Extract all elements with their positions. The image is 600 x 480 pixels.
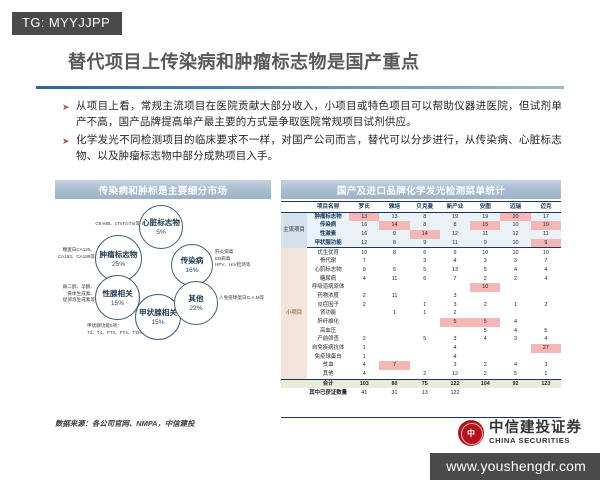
cell: 2 — [440, 309, 470, 318]
cell: 2 — [470, 370, 500, 379]
title-divider — [36, 86, 564, 89]
cell: 2 — [349, 301, 379, 310]
cell: 6 — [410, 275, 440, 284]
cell: 4 — [500, 361, 530, 370]
cell — [281, 379, 307, 388]
cell: 10 — [470, 283, 500, 292]
row-label: 其中已获证数量 — [307, 388, 349, 397]
cell: 3 — [531, 361, 561, 370]
cell — [500, 388, 530, 397]
table-row: 药物浓度2113 — [281, 292, 561, 301]
cell: 10 — [531, 248, 561, 257]
bubble-value: 15% — [111, 300, 124, 307]
table-row: 其他4212251 — [281, 370, 561, 379]
row-label: 免疫球蛋白 — [307, 353, 349, 362]
cell: 2 — [470, 301, 500, 310]
cell: 7 — [349, 257, 379, 266]
table-row: 贫血473243 — [281, 361, 561, 370]
cell: 13 — [440, 266, 470, 275]
cell — [470, 344, 500, 353]
note-thyroid: 甲状腺功能5项： T3、T4、FT3、FT4、TSH — [87, 323, 159, 336]
header-roche: 罗氏 — [349, 202, 379, 213]
cell — [349, 327, 379, 336]
cell: 4 — [440, 344, 470, 353]
row-label: 高血压 — [307, 327, 349, 336]
panel-header-left: 传染病和肿标是主要细分市场 — [55, 180, 271, 199]
cell: 8 — [410, 212, 440, 221]
cell: 10 — [470, 248, 500, 257]
cell: 4 — [500, 266, 530, 275]
bubble-label: 其他 — [188, 294, 203, 303]
cell: 5 — [379, 266, 409, 275]
cell — [379, 370, 409, 379]
note-cardiac: CK-MB、cTnT/cTnI等 — [84, 221, 140, 228]
source-note: 数据来源：各公司官网、NMPA，中信建投 — [55, 418, 194, 429]
cell — [470, 292, 500, 301]
cell: 19 — [440, 212, 470, 221]
cell: 3 — [500, 335, 530, 344]
row-label: 药物浓度 — [307, 292, 349, 301]
cell: 14 — [379, 221, 409, 230]
panel-header-right: 国产及进口品牌化学发光检测菜单统计 — [281, 180, 561, 199]
cell: 14 — [410, 230, 440, 239]
cell: 8 — [440, 221, 470, 230]
cell: 3 — [470, 257, 500, 266]
cell: 19 — [531, 221, 561, 230]
table-row: 免疫球蛋白14 — [281, 353, 561, 362]
cell — [531, 353, 561, 362]
cell: 4 — [440, 353, 470, 362]
bubble-other: 其他 22% — [174, 281, 218, 325]
row-label: 甲状腺功能 — [307, 239, 349, 248]
cell: 6 — [410, 248, 440, 257]
cell: 2 — [349, 292, 379, 301]
cell: 4 — [500, 327, 530, 336]
cell: 13 — [349, 212, 379, 221]
cell: 4 — [500, 318, 530, 327]
cell: 122 — [440, 388, 470, 397]
cell: 5 — [410, 266, 440, 275]
cell — [379, 257, 409, 266]
cell: 1 — [349, 353, 379, 362]
cell: 11 — [531, 230, 561, 239]
group-label-main: 主流项目 — [281, 212, 307, 248]
cell — [470, 353, 500, 362]
cell: 3 — [440, 301, 470, 310]
cell — [470, 388, 500, 397]
table-row-total: 合计103807512210492123 — [281, 379, 561, 388]
cell: 2 — [349, 335, 379, 344]
cell: 17 — [531, 212, 561, 221]
row-label: 优生优育 — [307, 248, 349, 257]
cell — [531, 283, 561, 292]
bubble-label: 肿瘤标志物 — [100, 250, 138, 259]
page-title: 替代项目上传染病和肿瘤标志物是国产重点 — [68, 48, 420, 74]
bubble-gonad: 性腺相关 15% — [95, 275, 140, 320]
cell: 3 — [410, 257, 440, 266]
cell — [531, 309, 561, 318]
cell: 12 — [440, 370, 470, 379]
row-label: 自免疾病抗体 — [307, 344, 349, 353]
cell: 4 — [531, 335, 561, 344]
row-label: 呼吸道病原体 — [307, 283, 349, 292]
cell: 10 — [500, 248, 530, 257]
cell: 123 — [531, 379, 561, 388]
cell: 4 — [531, 275, 561, 284]
table-row: 性激素1691412111211 — [281, 230, 561, 239]
cell: 3 — [440, 292, 470, 301]
header-snibe: 新产业 — [440, 202, 470, 213]
cell: 12 — [349, 239, 379, 248]
table-bottom-rule — [281, 417, 561, 418]
cell — [531, 318, 561, 327]
cell — [379, 353, 409, 362]
cell: 20 — [500, 212, 530, 221]
cell — [500, 344, 530, 353]
cell — [500, 309, 530, 318]
cell: 4 — [440, 257, 470, 266]
header-maccura: 迈克 — [531, 202, 561, 213]
cell: 5 — [440, 318, 470, 327]
group-label-small: 小项目 — [281, 248, 307, 379]
cell: 8 — [410, 221, 440, 230]
tg-tag-badge: TG: MYYJJPP — [12, 12, 122, 35]
row-label: 肿瘤标志物 — [307, 212, 349, 221]
cell: 3 — [440, 361, 470, 370]
cell — [379, 318, 409, 327]
cell: 4 — [349, 275, 379, 284]
cell: 1 — [410, 309, 440, 318]
cell — [379, 301, 409, 310]
cell: 10 — [500, 239, 530, 248]
cell: 4 — [349, 370, 379, 379]
cell — [500, 292, 530, 301]
cell: 5 — [410, 335, 440, 344]
note-other: 人免疫球蛋白G,A,M等 — [219, 295, 269, 302]
cell: 9 — [440, 248, 470, 257]
bubble-value: 25% — [112, 261, 125, 268]
cell: 8 — [379, 248, 409, 257]
menu-statistics-table: 项目名称 罗氏 雅培 贝克曼 新产业 安图 迈瑞 迈克 主流项目肿瘤标志物131… — [281, 201, 561, 397]
cell: 8 — [379, 239, 409, 248]
cell — [379, 283, 409, 292]
bullet-list: ➤ 从项目上看，常规主流项目在医院贡献大部分收入，小项目或特色项目可以帮助仪器进… — [62, 99, 562, 167]
company-logo: 中 中信建投证券 CHINA SECURITIES — [458, 420, 582, 446]
row-label: 其他 — [307, 370, 349, 379]
cell: 7 — [440, 275, 470, 284]
cell: 11 — [379, 292, 409, 301]
cell: 1 — [410, 301, 440, 310]
cell: 19 — [470, 212, 500, 221]
bullet-item: ➤ 化学发光不同检测项目的临床要求不一样，对国产公司而言，替代可以分步进行，从传… — [62, 133, 562, 164]
table-row: 肝纤维化554 — [281, 318, 561, 327]
seal-icon: 中 — [458, 420, 484, 446]
cell: 10 — [500, 221, 530, 230]
cell: 13 — [410, 388, 440, 397]
cell: 92 — [500, 379, 530, 388]
cell — [281, 388, 307, 397]
cell: 75 — [410, 379, 440, 388]
table-row: 肾功能112 — [281, 309, 561, 318]
cell: 4 — [531, 266, 561, 275]
cell — [410, 353, 440, 362]
cell: 2 — [410, 370, 440, 379]
cell: 2 — [500, 275, 530, 284]
cell — [410, 327, 440, 336]
row-label: 产前筛查 — [307, 335, 349, 344]
cell: 5 — [500, 370, 530, 379]
cell: 1 — [500, 301, 530, 310]
row-label: 心肌标志物 — [307, 266, 349, 275]
cell — [410, 344, 440, 353]
row-label: 炎症因子 — [307, 301, 349, 310]
cell — [500, 353, 530, 362]
table-header-row: 项目名称 罗氏 雅培 贝克曼 新产业 安图 迈瑞 迈克 — [281, 202, 561, 213]
bubble-label: 心脏标志物 — [142, 218, 180, 227]
cell — [349, 309, 379, 318]
cell: 122 — [440, 379, 470, 388]
table-row: 骨代谢734337 — [281, 257, 561, 266]
row-label: 肾功能 — [307, 309, 349, 318]
cell — [379, 344, 409, 353]
cell: 7 — [531, 257, 561, 266]
cell — [500, 283, 530, 292]
cell: 2 — [470, 275, 500, 284]
bubble-label: 性腺相关 — [102, 289, 132, 298]
cell: 11 — [379, 275, 409, 284]
cell: 1 — [349, 344, 379, 353]
cell: 9 — [349, 266, 379, 275]
row-label: 合计 — [307, 379, 349, 388]
table-row: 甲状腺功能1289119109 — [281, 239, 561, 248]
cell — [531, 292, 561, 301]
slide-canvas: TG: MYYJJPP 替代项目上传染病和肿瘤标志物是国产重点 ➤ 从项目上看，… — [0, 0, 600, 480]
table-row: 高血压545 — [281, 327, 561, 336]
cell: 2 — [470, 361, 500, 370]
cell: 3 — [440, 335, 470, 344]
cell: 10 — [349, 248, 379, 257]
cell: 103 — [349, 379, 379, 388]
cell — [410, 292, 440, 301]
row-label: 传染病 — [307, 221, 349, 230]
cell: 4 — [470, 335, 500, 344]
cell — [410, 318, 440, 327]
cell: 1 — [379, 309, 409, 318]
cell — [440, 283, 470, 292]
cell: 27 — [531, 344, 561, 353]
bullet-arrow-icon: ➤ — [62, 100, 76, 115]
table-row: 呼吸道病原体10 — [281, 283, 561, 292]
bullet-arrow-icon: ➤ — [62, 134, 76, 149]
header-autobio: 安图 — [470, 202, 500, 213]
bubble-label: 传染病 — [181, 256, 204, 265]
row-label: 肝纤维化 — [307, 318, 349, 327]
segment-bubble-diagram: 心脏标志物 5% 肿瘤标志物 25% 传染病 16% 性腺相关 15% 甲状腺相… — [55, 199, 271, 399]
cell: 9 — [470, 239, 500, 248]
table-row: 炎症因子213212 — [281, 301, 561, 310]
cell — [531, 388, 561, 397]
table-row-certified: 其中已获证数量413113122 — [281, 388, 561, 397]
table-row: 心肌标志物95513544 — [281, 266, 561, 275]
cell: 31 — [379, 388, 409, 397]
cell: 12 — [440, 230, 470, 239]
cell: 11 — [470, 230, 500, 239]
cell: 5 — [531, 327, 561, 336]
cell — [349, 283, 379, 292]
cell: 4 — [349, 361, 379, 370]
bubble-infectious: 传染病 16% — [171, 244, 213, 286]
cell — [349, 318, 379, 327]
cell: 9 — [531, 239, 561, 248]
cell: 9 — [410, 239, 440, 248]
row-label: 性激素 — [307, 230, 349, 239]
note-tumor: 糖蛋白CA125、 CA153、CA199等 — [55, 247, 95, 260]
note-gonad: 雌二醇、孕酮、 黄体生成素、 促卵泡生成素等 — [53, 284, 95, 304]
cell: 9 — [379, 230, 409, 239]
bubble-value: 5% — [156, 229, 166, 236]
bubble-value: 16% — [185, 267, 198, 274]
cell: 104 — [470, 379, 500, 388]
row-label: 骨代谢 — [307, 257, 349, 266]
cell: 1 — [531, 370, 561, 379]
table-row: 产前筛查253434 — [281, 335, 561, 344]
header-mindray: 迈瑞 — [500, 202, 530, 213]
table-row: 自免疾病抗体1427 — [281, 344, 561, 353]
bubble-value: 22% — [189, 305, 202, 312]
header-group-col — [281, 202, 307, 213]
cell: 80 — [379, 379, 409, 388]
cell: 2 — [531, 301, 561, 310]
cell: 16 — [349, 230, 379, 239]
watermark-url: www.youshengdr.com — [430, 453, 600, 480]
cell: 16 — [349, 221, 379, 230]
cell — [379, 335, 409, 344]
cell: 7 — [379, 361, 409, 370]
header-item-name: 项目名称 — [307, 202, 349, 213]
table-body: 主流项目肿瘤标志物1313819192017传染病161488151019性激素… — [281, 212, 561, 397]
cell: 5 — [470, 318, 500, 327]
cell: 12 — [500, 230, 530, 239]
seal-glyph: 中 — [467, 428, 475, 439]
row-label: 贫血 — [307, 361, 349, 370]
cell — [410, 283, 440, 292]
cell: 3 — [500, 257, 530, 266]
cell — [470, 309, 500, 318]
cell: 5 — [470, 266, 500, 275]
logo-text-cn: 中信建投证券 — [489, 421, 582, 436]
table-row: 小项目优生优育10869101010 — [281, 248, 561, 257]
note-infectious: 肝炎病毒 EB病毒 HPV、HIV检测等 — [215, 249, 267, 269]
logo-text-en: CHINA SECURITIES — [489, 436, 582, 446]
cell — [410, 361, 440, 370]
bullet-text: 从项目上看，常规主流项目在医院贡献大部分收入，小项目或特色项目可以帮助仪器进医院… — [76, 99, 562, 130]
table-row: 糖尿病41167224 — [281, 275, 561, 284]
header-beckman: 贝克曼 — [410, 202, 440, 213]
bubble-label: 甲状腺相关 — [139, 308, 177, 317]
cell: 5 — [470, 327, 500, 336]
bubble-cardiac: 心脏标志物 5% — [139, 205, 183, 249]
table-row: 主流项目肿瘤标志物1313819192017 — [281, 212, 561, 221]
cell: 41 — [349, 388, 379, 397]
cell: 15 — [470, 221, 500, 230]
header-abbott: 雅培 — [379, 202, 409, 213]
bullet-item: ➤ 从项目上看，常规主流项目在医院贡献大部分收入，小项目或特色项目可以帮助仪器进… — [62, 99, 562, 130]
table-row: 传染病161488151019 — [281, 221, 561, 230]
cell: 13 — [379, 212, 409, 221]
cell — [379, 327, 409, 336]
cell — [440, 327, 470, 336]
row-label: 糖尿病 — [307, 275, 349, 284]
cell: 11 — [440, 239, 470, 248]
bullet-text: 化学发光不同检测项目的临床要求不一样，对国产公司而言，替代可以分步进行，从传染病… — [76, 133, 562, 164]
